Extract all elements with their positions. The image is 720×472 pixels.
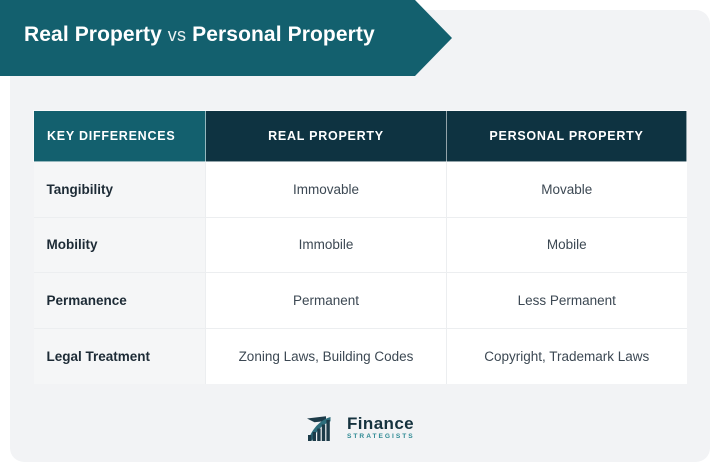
cell-real-legal-treatment: Zoning Laws, Building Codes xyxy=(206,328,447,384)
row-label-tangibility: Tangibility xyxy=(34,162,206,218)
brand-tagline: STRATEGISTS xyxy=(347,434,415,441)
cell-real-tangibility: Immovable xyxy=(206,162,447,218)
table-row: Tangibility Immovable Movable xyxy=(34,162,687,218)
table-row: Permanence Permanent Less Permanent xyxy=(34,273,687,329)
cell-real-permanence: Permanent xyxy=(206,273,447,329)
cell-personal-permanence: Less Permanent xyxy=(447,273,687,329)
table-row: Legal Treatment Zoning Laws, Building Co… xyxy=(34,328,687,384)
table-header: KEY DIFFERENCES REAL PROPERTY PERSONAL P… xyxy=(34,111,687,162)
comparison-table-wrapper: KEY DIFFERENCES REAL PROPERTY PERSONAL P… xyxy=(33,110,686,384)
brand-name: Finance xyxy=(347,415,415,432)
cell-personal-mobility: Mobile xyxy=(447,217,687,273)
title-part-one: Real Property xyxy=(24,23,162,46)
title-part-two: Personal Property xyxy=(192,23,375,46)
finance-strategists-mark-icon xyxy=(305,413,341,443)
row-label-legal-treatment: Legal Treatment xyxy=(34,328,206,384)
brand-logo-text: Finance STRATEGISTS xyxy=(347,415,415,441)
column-header-real-property: REAL PROPERTY xyxy=(206,111,447,162)
table-row: Mobility Immobile Mobile xyxy=(34,217,687,273)
row-label-mobility: Mobility xyxy=(34,217,206,273)
table-header-row: KEY DIFFERENCES REAL PROPERTY PERSONAL P… xyxy=(34,111,687,162)
title-banner: Real Property vs Personal Property xyxy=(0,0,452,76)
brand-logo: Finance STRATEGISTS xyxy=(305,409,425,447)
comparison-table: KEY DIFFERENCES REAL PROPERTY PERSONAL P… xyxy=(33,110,687,384)
infographic-root: Real Property vs Personal Property KEY D… xyxy=(0,0,720,472)
title-versus: vs xyxy=(168,25,186,45)
column-header-key-differences: KEY DIFFERENCES xyxy=(34,111,206,162)
cell-real-mobility: Immobile xyxy=(206,217,447,273)
cell-personal-tangibility: Movable xyxy=(447,162,687,218)
row-label-permanence: Permanence xyxy=(34,273,206,329)
page-title: Real Property vs Personal Property xyxy=(24,23,375,47)
cell-personal-legal-treatment: Copyright, Trademark Laws xyxy=(447,328,687,384)
table-body: Tangibility Immovable Movable Mobility I… xyxy=(34,162,687,384)
column-header-personal-property: PERSONAL PROPERTY xyxy=(447,111,687,162)
